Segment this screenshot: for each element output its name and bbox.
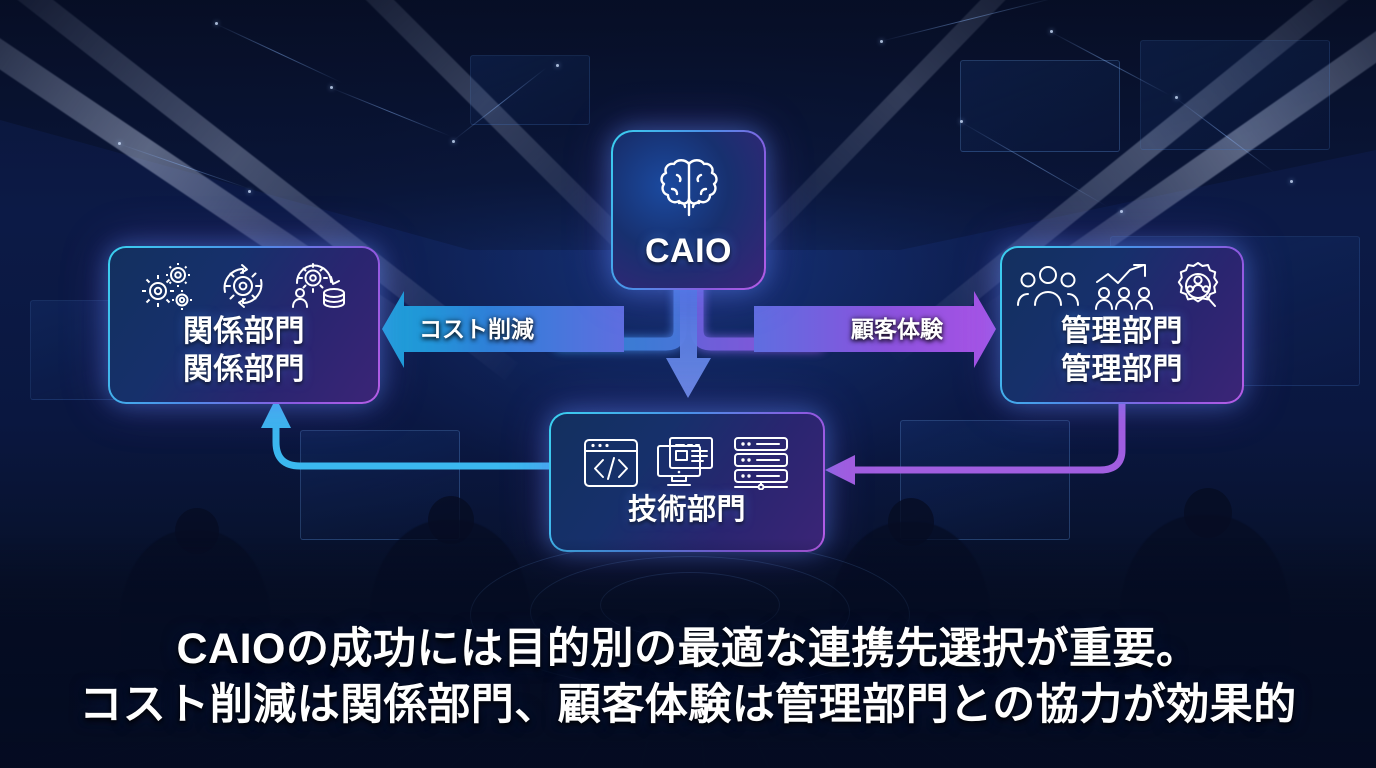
node-right-icons (1017, 261, 1227, 311)
node-right-label-2: 管理部門 (1061, 353, 1183, 387)
arrow-label-customer-experience: 顧客体験 (851, 310, 943, 344)
caption-line-2: コスト削減は関係部門、顧客体験は管理部門との協力が効果的 (0, 678, 1376, 734)
arrow-tech-to-left-dept (261, 398, 549, 466)
node-left-label-2: 関係部門 (183, 353, 305, 387)
node-tech-label: 技術部門 (628, 494, 746, 526)
node-related-departments[interactable]: 関係部門 関係部門 (108, 246, 380, 404)
caption: CAIOの成功には目的別の最適な連携先選択が重要。 コスト削減は関係部門、顧客体… (0, 622, 1376, 734)
arrow-label-cost-reduction: コスト削減 (419, 310, 534, 344)
node-right-label-1: 管理部門 (1061, 315, 1183, 349)
growth-chart-people-icon (1093, 262, 1155, 310)
gear-person-database-icon (287, 261, 351, 311)
gears-icon (137, 261, 199, 311)
monitor-icon (654, 436, 716, 490)
server-rack-icon (730, 436, 792, 490)
gear-refresh-icon (213, 261, 273, 311)
gear-team-search-icon (1169, 261, 1227, 311)
diagram-canvas: CAIO (0, 0, 1376, 768)
code-window-icon (582, 436, 640, 490)
node-left-label-1: 関係部門 (183, 315, 305, 349)
node-technology-department[interactable]: 技術部門 (549, 412, 825, 552)
arrow-right-dept-to-tech (825, 404, 1122, 485)
people-group-icon (1017, 263, 1079, 309)
node-caio-label: CAIO (645, 232, 732, 270)
node-management-departments[interactable]: 管理部門 管理部門 (1000, 246, 1244, 404)
node-tech-icons (582, 436, 792, 490)
brain-icon (650, 151, 728, 230)
node-left-icons (137, 261, 351, 311)
node-caio[interactable]: CAIO (611, 130, 766, 290)
caption-line-1: CAIOの成功には目的別の最適な連携先選択が重要。 (0, 622, 1376, 678)
